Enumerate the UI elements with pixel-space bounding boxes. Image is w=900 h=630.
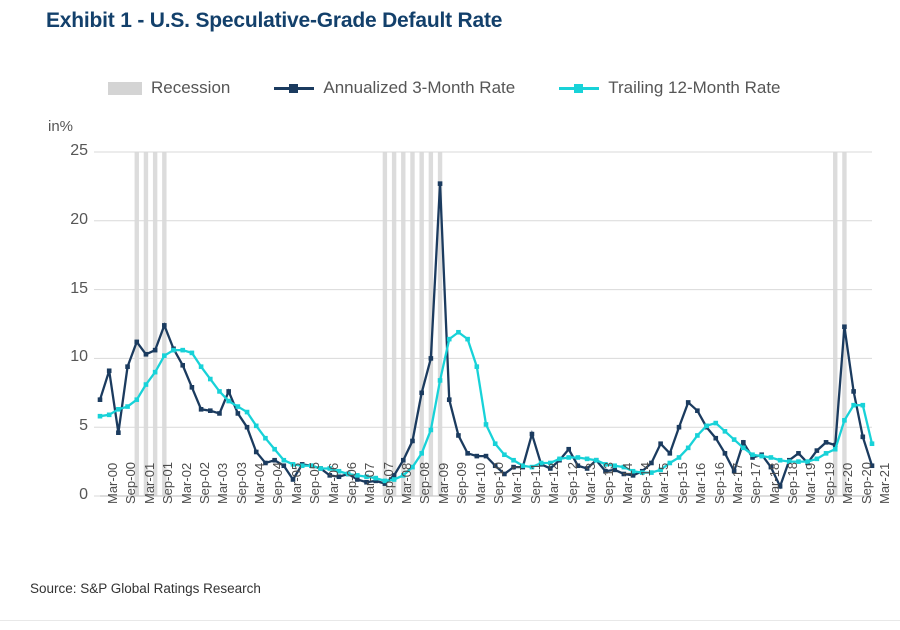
x-axis-tick-label: Mar-12 [546,463,561,504]
data-point-marker [116,407,121,412]
x-axis-tick-label: Mar-16 [693,463,708,504]
x-axis-tick-label: Mar-07 [362,463,377,504]
data-point-marker [180,363,185,368]
data-point-marker [116,430,121,435]
data-point-marker [861,403,866,408]
data-point-marker [456,433,461,438]
data-point-marker [557,457,562,462]
bottom-divider [0,620,900,621]
y-axis-tick-label: 25 [48,142,88,160]
data-point-marker [585,457,590,462]
data-point-marker [502,452,507,457]
data-point-marker [576,455,581,460]
data-point-marker [842,418,847,423]
recession-band [392,152,396,496]
data-point-marker [465,337,470,342]
data-point-marker [851,389,856,394]
data-point-marker [208,408,213,413]
data-point-marker [870,441,875,446]
x-axis-tick-label: Sep-01 [160,462,175,504]
line-chart-svg [0,0,900,625]
data-point-marker [199,364,204,369]
plot-area [0,0,900,630]
chart-page: Exhibit 1 - U.S. Speculative-Grade Defau… [0,0,900,625]
recession-band [419,152,423,496]
data-point-marker [153,348,158,353]
data-point-marker [750,452,755,457]
recession-band [383,152,387,496]
data-point-marker [272,447,277,452]
data-point-marker [208,377,213,382]
x-axis-tick-label: Mar-11 [509,464,524,504]
series-line-annualized-3-month [100,184,872,487]
data-point-marker [199,407,204,412]
data-point-marker [125,404,130,409]
x-axis-tick-label: Sep-20 [859,462,874,504]
recession-band [144,152,148,496]
data-point-marker [171,348,176,353]
data-point-marker [833,447,838,452]
series-line-trailing-12-month [100,332,872,481]
data-point-marker [98,397,103,402]
data-point-marker [226,389,231,394]
x-axis-tick-label: Mar-05 [289,463,304,504]
x-axis-tick-label: Mar-17 [730,463,745,504]
data-point-marker [815,457,820,462]
data-point-marker [236,404,241,409]
x-axis-tick-label: Mar-02 [179,463,194,504]
data-point-marker [144,352,149,357]
data-point-marker [677,425,682,430]
data-point-marker [796,451,801,456]
x-axis-tick-label: Mar-19 [803,463,818,504]
data-point-marker [245,425,250,430]
data-point-marker [190,385,195,390]
x-axis-tick-label: Sep-06 [344,462,359,504]
recession-band [153,152,157,496]
data-point-marker [741,440,746,445]
data-point-marker [677,455,682,460]
data-point-marker [686,400,691,405]
data-point-marker [125,364,130,369]
recession-band [842,152,846,496]
x-axis-tick-label: Sep-05 [307,462,322,504]
data-point-marker [741,446,746,451]
data-point-marker [217,389,222,394]
x-axis-tick-label: Mar-03 [215,463,230,504]
data-point-marker [447,397,452,402]
data-point-marker [769,455,774,460]
data-point-marker [686,446,691,451]
data-point-marker [153,370,158,375]
data-point-marker [815,448,820,453]
data-point-marker [851,403,856,408]
x-axis-tick-label: Mar-20 [840,463,855,504]
data-point-marker [493,441,498,446]
recession-band [401,152,405,496]
x-axis-tick-label: Mar-09 [436,463,451,504]
x-axis-tick-label: Sep-02 [197,462,212,504]
data-point-marker [759,454,764,459]
x-axis-tick-label: Mar-14 [620,463,635,504]
x-axis-tick-label: Sep-15 [675,462,690,504]
data-point-marker [134,397,139,402]
y-axis-tick-label: 0 [48,486,88,504]
data-point-marker [438,181,443,186]
x-axis-tick-label: Sep-11 [528,463,543,504]
data-point-marker [107,413,112,418]
data-point-marker [254,424,259,429]
data-point-marker [484,454,489,459]
x-axis-tick-label: Sep-18 [785,462,800,504]
y-axis-tick-label: 20 [48,211,88,229]
data-point-marker [695,433,700,438]
data-point-marker [475,364,480,369]
data-point-marker [713,421,718,426]
x-axis-tick-label: Sep-12 [565,462,580,504]
data-point-marker [236,411,241,416]
x-axis-tick-label: Mar-01 [142,463,157,504]
x-axis-tick-label: Sep-03 [234,462,249,504]
data-point-marker [824,451,829,456]
x-axis-tick-label: Mar-04 [252,463,267,504]
data-point-marker [134,340,139,345]
data-point-marker [254,450,259,455]
data-point-marker [824,440,829,445]
x-axis-tick-label: Mar-06 [326,463,341,504]
x-axis-tick-label: Mar-10 [473,463,488,504]
y-axis-tick-label: 5 [48,417,88,435]
data-point-marker [566,447,571,452]
x-axis-tick-label: Sep-00 [123,462,138,504]
x-axis-tick-label: Sep-10 [491,462,506,504]
data-point-marker [484,422,489,427]
x-axis-tick-label: Mar-13 [583,463,598,504]
data-point-marker [419,391,424,396]
data-point-marker [668,451,673,456]
data-point-marker [263,436,268,441]
data-point-marker [217,411,222,416]
data-point-marker [410,439,415,444]
x-axis-tick-label: Sep-13 [601,462,616,504]
data-point-marker [226,399,231,404]
data-point-marker [704,424,709,429]
data-point-marker [566,455,571,460]
data-point-marker [190,351,195,356]
data-point-marker [713,436,718,441]
data-point-marker [511,458,516,463]
data-point-marker [456,330,461,335]
data-point-marker [419,451,424,456]
data-point-marker [861,435,866,440]
source-note: Source: S&P Global Ratings Research [30,581,261,596]
x-axis-tick-label: Sep-07 [381,462,396,504]
x-axis-tick-label: Sep-09 [454,462,469,504]
data-point-marker [429,428,434,433]
data-point-marker [429,356,434,361]
data-point-marker [107,368,112,373]
data-point-marker [658,441,663,446]
data-point-marker [180,348,185,353]
y-axis-tick-label: 10 [48,348,88,366]
data-point-marker [475,454,480,459]
recession-band [135,152,139,496]
x-axis-tick-label: Sep-08 [417,462,432,504]
data-point-marker [245,410,250,415]
data-point-marker [723,429,728,434]
data-point-marker [695,408,700,413]
y-axis-tick-label: 15 [48,280,88,298]
x-axis-tick-label: Mar-00 [105,463,120,504]
x-axis-tick-label: Mar-18 [767,463,782,504]
x-axis-tick-label: Mar-08 [399,463,414,504]
data-point-marker [732,437,737,442]
data-point-marker [465,451,470,456]
x-axis-tick-label: Sep-19 [822,462,837,504]
data-point-marker [530,432,535,437]
data-point-marker [842,324,847,329]
data-point-marker [144,382,149,387]
x-axis-tick-label: Mar-21 [877,463,892,504]
x-axis-tick-label: Sep-04 [270,462,285,504]
data-point-marker [162,353,167,358]
data-point-marker [438,378,443,383]
data-point-marker [162,323,167,328]
data-point-marker [447,337,452,342]
x-axis-tick-label: Mar-15 [656,463,671,504]
data-point-marker [98,414,103,419]
x-axis-tick-label: Sep-14 [638,462,653,504]
x-axis-tick-label: Sep-16 [712,462,727,504]
x-axis-tick-label: Sep-17 [748,462,763,504]
data-point-marker [723,451,728,456]
